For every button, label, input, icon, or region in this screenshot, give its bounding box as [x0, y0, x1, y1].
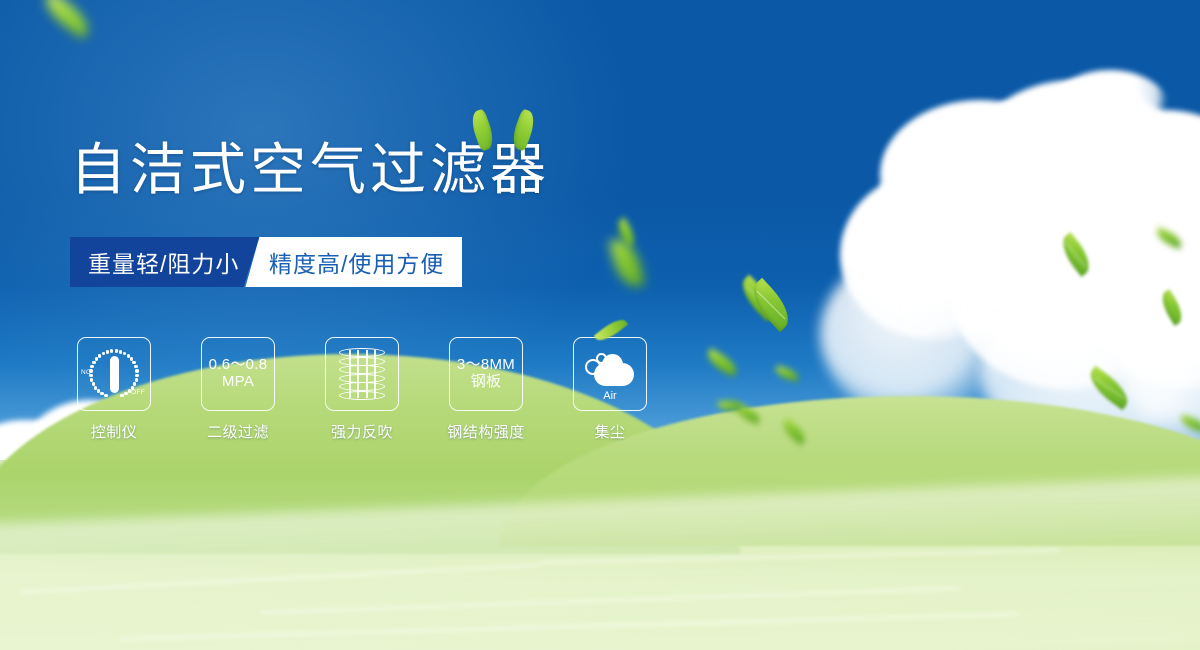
- control-dial-icon: NOOFF: [77, 337, 151, 411]
- feature-label: 钢结构强度: [447, 421, 525, 442]
- steel-plate-text-icon: 3～8MM 钢板: [449, 337, 523, 411]
- grass-field: [0, 460, 1200, 650]
- air-label: Air: [582, 390, 638, 402]
- subtitle-bar: 重量轻/阻力小 精度高/使用方便: [70, 237, 462, 287]
- feature-label: 集尘: [594, 421, 625, 442]
- feature-item-blowback[interactable]: 强力反吹: [326, 337, 398, 442]
- feature-label: 强力反吹: [331, 421, 393, 442]
- steel-material: 钢板: [457, 374, 515, 391]
- subtitle-segment-left: 重量轻/阻力小: [70, 237, 259, 287]
- subtitle-segment-right: 精度高/使用方便: [245, 237, 462, 287]
- pressure-unit: MPA: [209, 374, 268, 391]
- pressure-text-icon: 0.6～0.8 MPA: [201, 337, 275, 411]
- hero-banner: 自洁式空气过滤器 重量轻/阻力小 精度高/使用方便 NOOFF 控制仪 0.6～…: [0, 0, 1200, 650]
- steel-thickness: 3～8MM: [457, 356, 515, 373]
- feature-item-pressure[interactable]: 0.6～0.8 MPA 二级过滤: [202, 337, 274, 442]
- sprout-leaves-icon: [472, 110, 534, 160]
- feature-label: 控制仪: [91, 421, 138, 442]
- feature-label: 二级过滤: [207, 421, 269, 442]
- pressure-value: 0.6～0.8: [209, 356, 268, 373]
- feature-item-control[interactable]: NOOFF 控制仪: [78, 337, 150, 442]
- feature-item-steel[interactable]: 3～8MM 钢板 钢结构强度: [450, 337, 522, 442]
- coil-filter-icon: [325, 337, 399, 411]
- feature-list: NOOFF 控制仪 0.6～0.8 MPA 二级过滤 强力反吹 3～8MM: [78, 337, 646, 442]
- feature-item-dust[interactable]: Air 集尘: [574, 337, 646, 442]
- air-cloud-icon: Air: [573, 337, 647, 411]
